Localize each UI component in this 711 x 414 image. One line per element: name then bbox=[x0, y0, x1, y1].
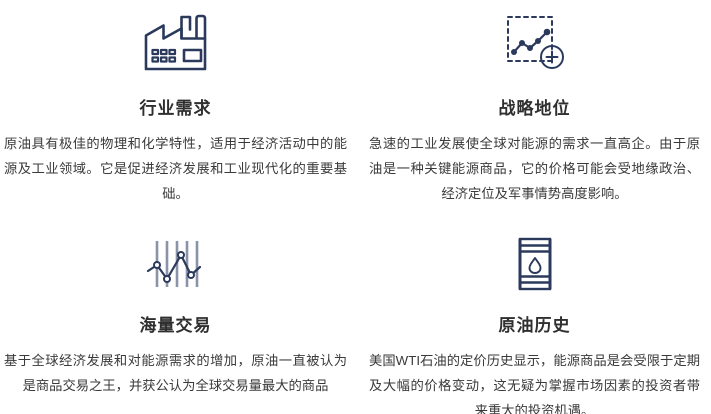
feature-grid: 行业需求 原油具有极佳的物理和化学特性，适用于经济活动中的能源及工业领域。它是促… bbox=[0, 0, 711, 414]
feature-title: 战略地位 bbox=[499, 94, 571, 119]
oil-barrel-icon bbox=[507, 233, 563, 295]
feature-card-strategic-position: 战略地位 急速的工业发展使全球对能源的需求一直高企。由于原油是一种关键能源商品，… bbox=[355, 0, 711, 207]
feature-description: 急速的工业发展使全球对能源的需求一直高企。由于原油是一种关键能源商品，它的价格可… bbox=[369, 131, 700, 206]
line-chart-add-icon bbox=[500, 8, 570, 78]
feature-description: 基于全球经济发展和对能源需求的增加，原油一直被认为是商品交易之王，并获公认为全球… bbox=[4, 348, 347, 398]
volume-chart-icon bbox=[143, 233, 209, 295]
feature-title: 海量交易 bbox=[140, 311, 212, 336]
feature-card-oil-history: 原油历史 美国WTI石油的定价历史显示，能源商品是会受限于定期及大幅的价格变动，… bbox=[355, 207, 711, 414]
factory-icon bbox=[141, 8, 211, 78]
feature-card-industry-demand: 行业需求 原油具有极佳的物理和化学特性，适用于经济活动中的能源及工业领域。它是促… bbox=[0, 0, 355, 207]
feature-title: 原油历史 bbox=[499, 311, 571, 336]
feature-title: 行业需求 bbox=[140, 94, 212, 119]
feature-card-massive-trading: 海量交易 基于全球经济发展和对能源需求的增加，原油一直被认为是商品交易之王，并获… bbox=[0, 207, 355, 414]
feature-description: 原油具有极佳的物理和化学特性，适用于经济活动中的能源及工业领域。它是促进经济发展… bbox=[4, 131, 347, 206]
feature-description: 美国WTI石油的定价历史显示，能源商品是会受限于定期及大幅的价格变动，这无疑为掌… bbox=[369, 348, 700, 414]
